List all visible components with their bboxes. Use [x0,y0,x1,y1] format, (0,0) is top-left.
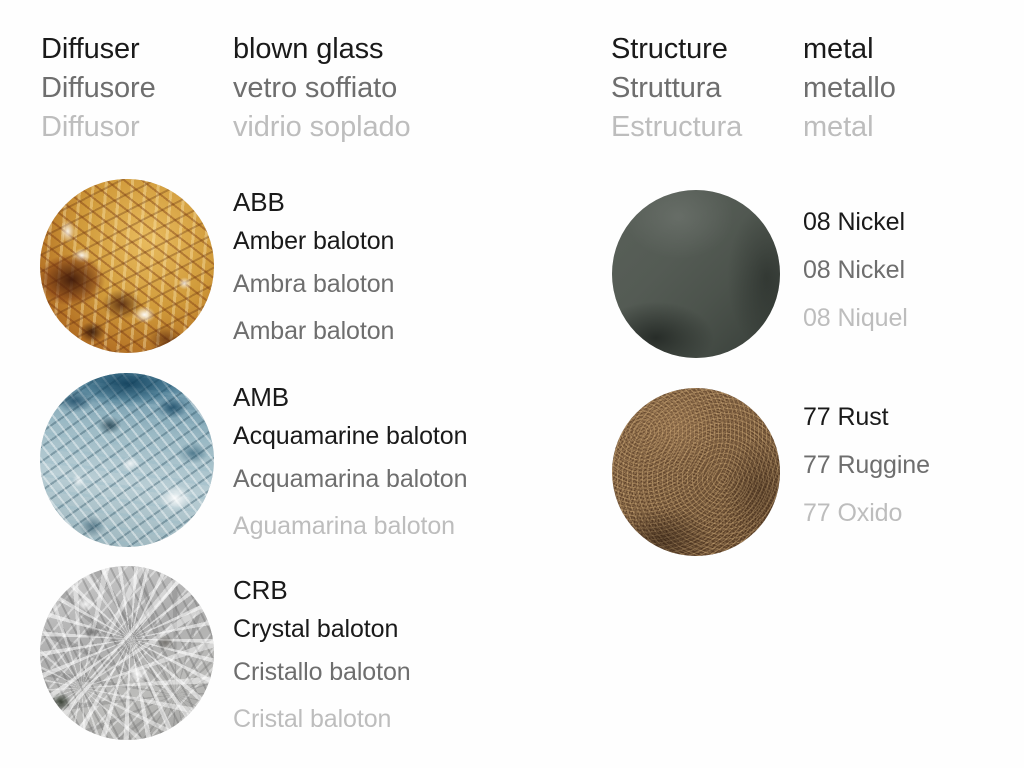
glass-name-crb-it: Cristallo baloton [233,648,411,696]
glass-code-abb: ABB [233,182,394,222]
crystal-baloton-swatch[interactable] [40,566,214,740]
rust-swatch[interactable] [612,388,780,556]
amber-baloton-texture [40,179,214,353]
header-structure-en: Structure [611,30,742,69]
column-header-blown-glass: blown glass vetro soffiato vidrio soplad… [233,30,411,147]
column-header-metal: metal metallo metal [803,30,896,147]
finish-legend-sheet: Diffuser Diffusore Diffusor blown glass … [0,0,1024,768]
header-blown-glass-it: vetro soffiato [233,69,411,108]
acquamarine-baloton-texture [40,373,214,547]
header-structure-it: Struttura [611,69,742,108]
nickel-swatch[interactable] [612,190,780,358]
glass-code-crb: CRB [233,570,411,610]
glass-name-abb-it: Ambra baloton [233,260,394,308]
metal-name-nickel-es: 08 Niquel [803,294,908,342]
metal-name-nickel-it: 08 Nickel [803,246,908,294]
header-diffuser-it: Diffusore [41,69,156,108]
amber-baloton-swatch[interactable] [40,179,214,353]
header-structure-es: Estructura [611,108,742,147]
header-metal-en: metal [803,30,896,69]
glass-name-amb-en: Acquamarine baloton [233,417,467,455]
metal-name-rust-it: 77 Ruggine [803,441,930,489]
metal-name-rust-es: 77 Oxido [803,489,930,537]
glass-name-abb-es: Ambar baloton [233,308,394,354]
glass-name-crb-en: Crystal baloton [233,610,411,648]
metal-name-rust-en: 77 Rust [803,393,930,441]
header-blown-glass-en: blown glass [233,30,411,69]
crystal-baloton-texture [40,566,214,740]
column-header-structure: Structure Struttura Estructura [611,30,742,147]
glass-name-crb-es: Cristal baloton [233,696,411,742]
header-diffuser-en: Diffuser [41,30,156,69]
column-header-diffuser: Diffuser Diffusore Diffusor [41,30,156,147]
acquamarine-baloton-swatch[interactable] [40,373,214,547]
rust-texture [612,388,780,556]
header-blown-glass-es: vidrio soplado [233,108,411,147]
glass-name-amb-it: Acquamarina baloton [233,455,467,503]
header-metal-es: metal [803,108,896,147]
metal-name-nickel-en: 08 Nickel [803,198,908,246]
glass-name-amb-es: Aguamarina baloton [233,503,467,549]
glass-code-amb: AMB [233,377,467,417]
header-diffuser-es: Diffusor [41,108,156,147]
glass-name-abb-en: Amber baloton [233,222,394,260]
header-metal-it: metallo [803,69,896,108]
nickel-texture [612,190,780,358]
